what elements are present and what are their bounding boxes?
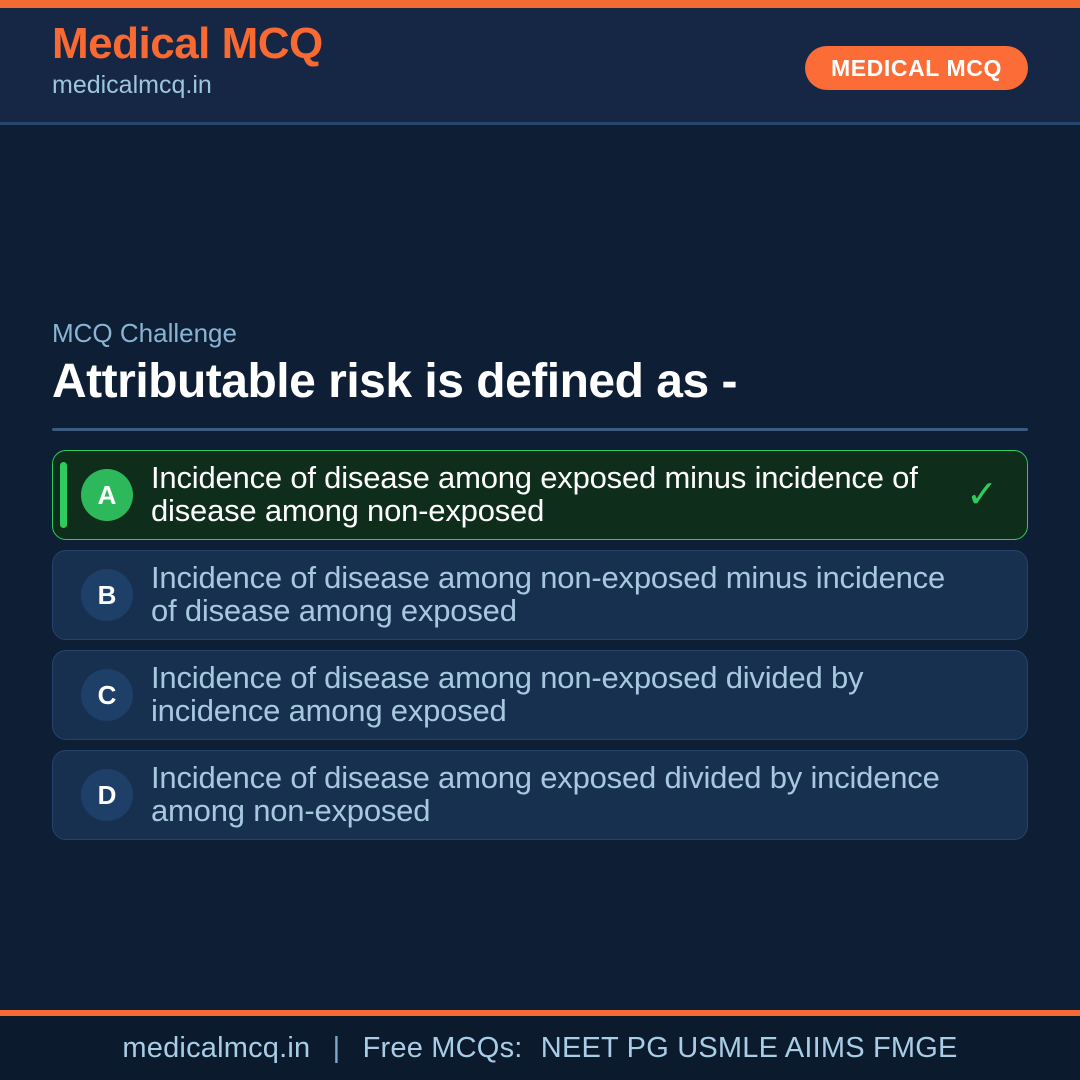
question-block: MCQ Challenge Attributable risk is defin… xyxy=(52,318,1028,409)
footer-site: medicalmcq.in xyxy=(122,1032,310,1064)
footer-exams-label: Free MCQs: xyxy=(363,1032,523,1064)
option-a-text: Incidence of disease among exposed minus… xyxy=(151,462,961,528)
option-b-badge: B xyxy=(81,569,133,621)
option-c-text: Incidence of disease among non-exposed d… xyxy=(151,662,961,728)
option-a-badge: A xyxy=(81,469,133,521)
check-icon: ✓ xyxy=(961,476,1003,514)
brand-pill-badge: MEDICAL MCQ xyxy=(805,46,1028,90)
question-eyebrow: MCQ Challenge xyxy=(52,318,1028,349)
option-accent-bar xyxy=(60,762,67,828)
question-divider xyxy=(52,428,1028,431)
footer-text: medicalmcq.in | Free MCQs: NEET PG USMLE… xyxy=(122,1032,957,1065)
option-c[interactable]: C Incidence of disease among non-exposed… xyxy=(52,650,1028,740)
brand-subtitle: medicalmcq.in xyxy=(52,70,323,100)
option-accent-bar xyxy=(60,662,67,728)
footer-bar: medicalmcq.in | Free MCQs: NEET PG USMLE… xyxy=(0,1016,1080,1080)
header-divider xyxy=(0,122,1080,125)
correct-accent-bar xyxy=(60,462,67,528)
question-text: Attributable risk is defined as - xyxy=(52,355,1028,409)
top-accent-bar xyxy=(0,0,1080,8)
option-d-badge: D xyxy=(81,769,133,821)
options-list: A Incidence of disease among exposed min… xyxy=(52,450,1028,850)
option-c-badge: C xyxy=(81,669,133,721)
footer-separator: | xyxy=(319,1032,355,1065)
footer-exams: NEET PG USMLE AIIMS FMGE xyxy=(531,1032,958,1064)
mcq-card-page: Medical MCQ medicalmcq.in MEDICAL MCQ MC… xyxy=(0,0,1080,1080)
header-bar: Medical MCQ medicalmcq.in MEDICAL MCQ xyxy=(0,8,1080,122)
option-b[interactable]: B Incidence of disease among non-exposed… xyxy=(52,550,1028,640)
option-d-text: Incidence of disease among exposed divid… xyxy=(151,762,961,828)
option-b-text: Incidence of disease among non-exposed m… xyxy=(151,562,961,628)
option-accent-bar xyxy=(60,562,67,628)
brand-title: Medical MCQ xyxy=(52,20,323,68)
option-d[interactable]: D Incidence of disease among exposed div… xyxy=(52,750,1028,840)
option-a[interactable]: A Incidence of disease among exposed min… xyxy=(52,450,1028,540)
brand: Medical MCQ medicalmcq.in xyxy=(52,20,323,100)
